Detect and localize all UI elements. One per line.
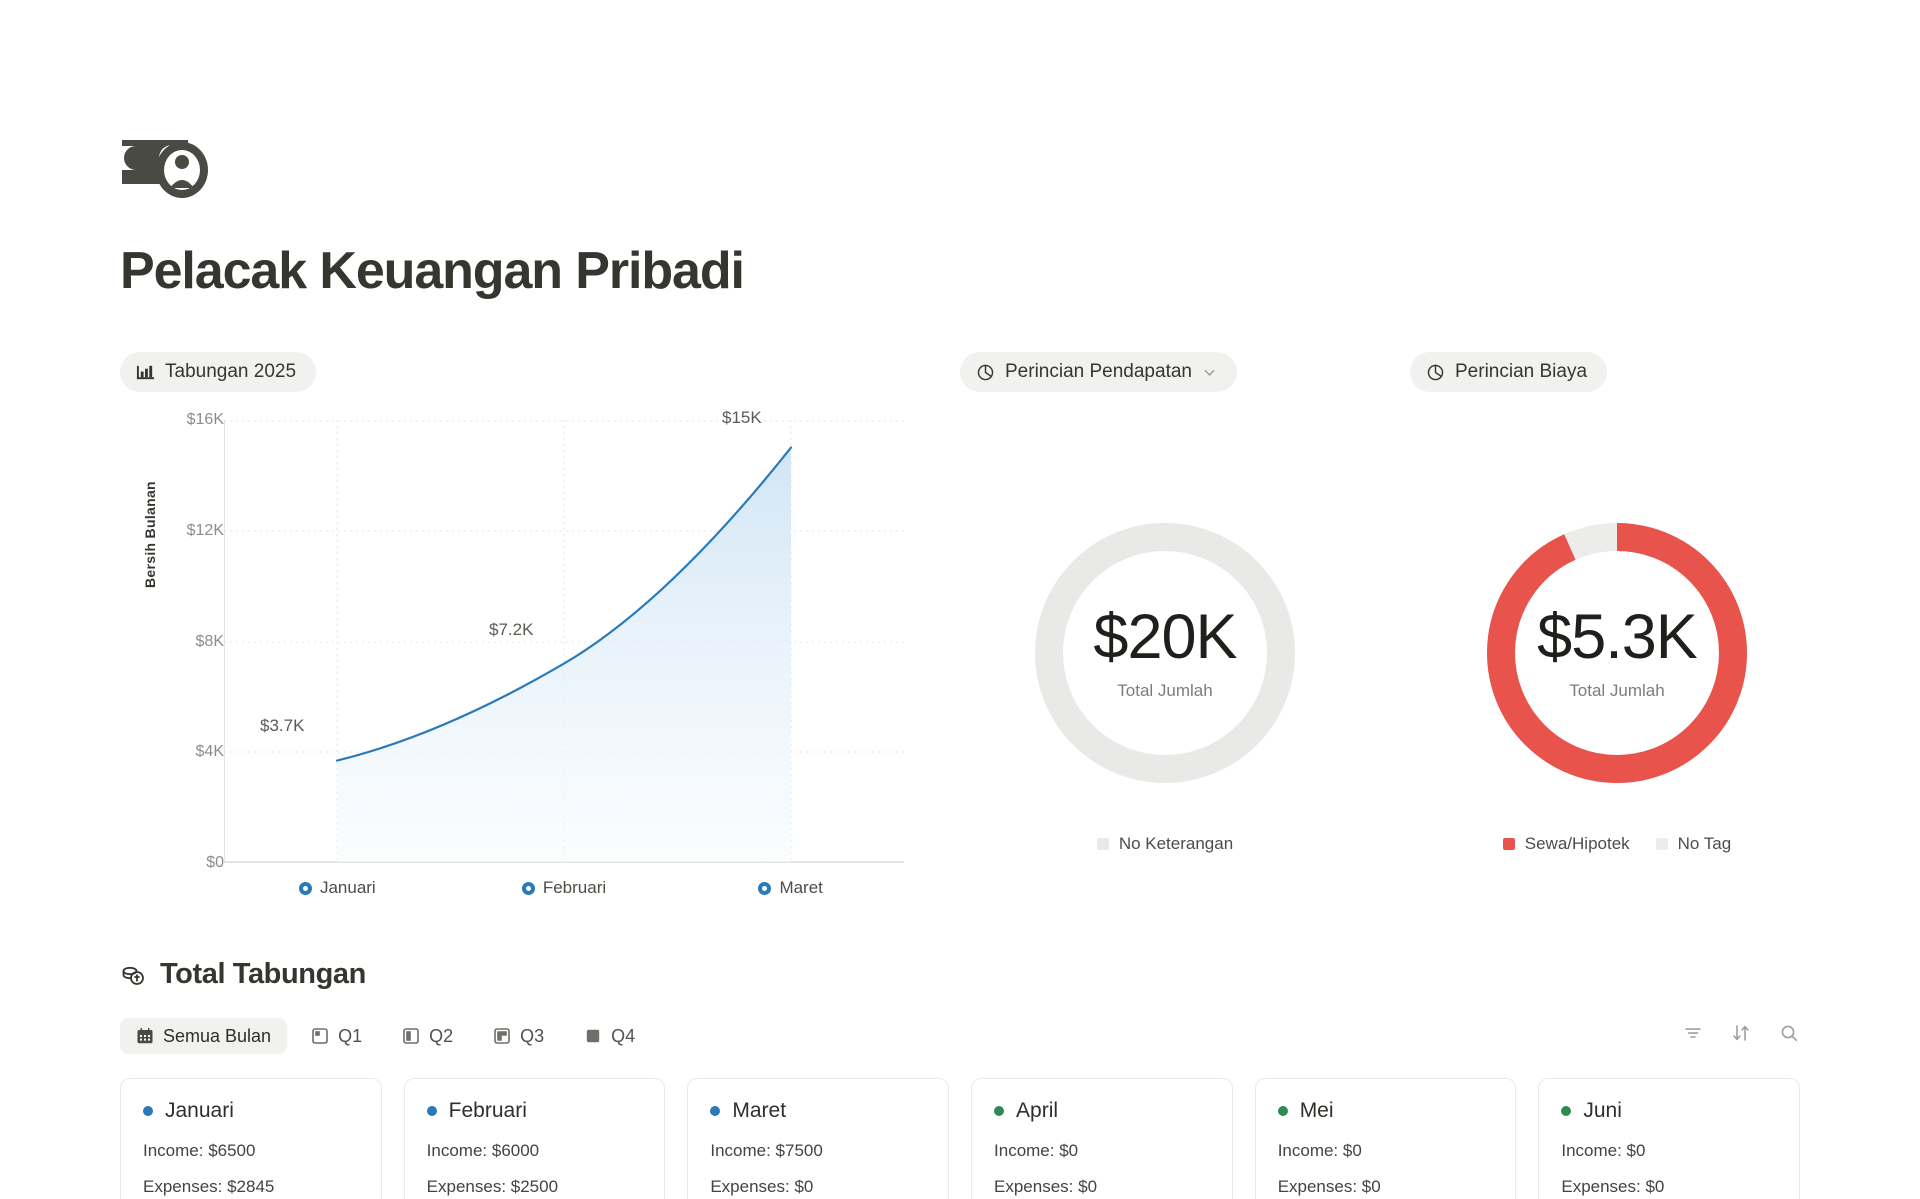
x-tick-label: Januari: [320, 878, 376, 898]
card-month-label: Juni: [1583, 1099, 1622, 1123]
card-month-label: April: [1016, 1099, 1058, 1123]
status-dot-icon: [1561, 1106, 1571, 1116]
chart-toolbar: Tabungan 2025 Perincian Pendapatan: [120, 352, 1800, 394]
month-tabs-row: Semua Bulan Q1 Q2 Q3: [120, 1018, 1800, 1056]
tab-perincian-biaya-label: Perincian Biaya: [1455, 361, 1587, 383]
table-tools: [1682, 1022, 1800, 1044]
tab-q1[interactable]: Q1: [295, 1018, 378, 1054]
expense-donut-chart: $5.3K Total Jumlah: [1482, 518, 1752, 788]
x-tick-label: Maret: [779, 878, 822, 898]
series-dot-icon: [299, 882, 312, 895]
legend-swatch-icon: [1503, 838, 1515, 850]
tab-perincian-pendapatan-label: Perincian Pendapatan: [1005, 361, 1192, 383]
tab-q2-label: Q2: [429, 1026, 453, 1047]
status-dot-icon: [1278, 1106, 1288, 1116]
status-dot-icon: [994, 1106, 1004, 1116]
month-tabs: Semua Bulan Q1 Q2 Q3: [120, 1018, 1800, 1054]
legend-label: No Tag: [1678, 834, 1732, 854]
tab-q2[interactable]: Q2: [386, 1018, 469, 1054]
month-cards: Januari Income: $6500 Expenses: $2845 Fe…: [120, 1078, 1800, 1199]
expense-donut-card: $5.3K Total Jumlah Sewa/Hipotek No Tag: [1452, 518, 1782, 854]
savings-area-chart: Bersih Bulanan $16K $12K $8K $4K $0: [120, 420, 920, 920]
x-tick-februari: Februari: [451, 878, 678, 898]
card-expenses: Expenses: $0: [994, 1177, 1210, 1197]
tab-semua-bulan-label: Semua Bulan: [163, 1026, 271, 1047]
x-axis: Januari Februari Maret: [224, 863, 904, 913]
filter-icon[interactable]: [1682, 1022, 1704, 1044]
card-header: Januari: [143, 1099, 359, 1123]
coins-icon: [120, 962, 146, 988]
card-expenses: Expenses: $0: [1561, 1177, 1777, 1197]
quarter-2-icon: [402, 1027, 420, 1045]
y-tick: $12K: [154, 522, 224, 540]
legend-item: No Keterangan: [1097, 834, 1233, 854]
sort-icon[interactable]: [1730, 1022, 1752, 1044]
bar-chart-icon: [136, 363, 155, 382]
card-month-label: Mei: [1300, 1099, 1334, 1123]
income-total-value: $20K: [1093, 606, 1236, 669]
card-income: Income: $0: [1278, 1141, 1494, 1161]
tab-tabungan-2025-label: Tabungan 2025: [165, 361, 296, 383]
status-dot-icon: [427, 1106, 437, 1116]
y-axis-ticks: $16K $12K $8K $4K $0: [120, 420, 224, 863]
data-label-januari: $3.7K: [260, 716, 304, 736]
expense-legend: Sewa/Hipotek No Tag: [1452, 834, 1782, 854]
tab-q3[interactable]: Q3: [477, 1018, 560, 1054]
section-title-label: Total Tabungan: [160, 958, 366, 991]
list-item[interactable]: Februari Income: $6000 Expenses: $2500: [404, 1078, 666, 1199]
y-tick: $4K: [154, 743, 224, 761]
series-dot-icon: [758, 882, 771, 895]
pie-chart-icon: [1426, 363, 1445, 382]
status-dot-icon: [710, 1106, 720, 1116]
calendar-icon: [136, 1027, 154, 1045]
expense-donut-center: $5.3K Total Jumlah: [1482, 518, 1752, 788]
x-tick-label: Februari: [543, 878, 606, 898]
tab-q3-label: Q3: [520, 1026, 544, 1047]
y-tick: $8K: [154, 633, 224, 651]
card-income: Income: $6500: [143, 1141, 359, 1161]
quarter-3-icon: [493, 1027, 511, 1045]
card-expenses: Expenses: $2500: [427, 1177, 643, 1197]
search-icon[interactable]: [1778, 1022, 1800, 1044]
card-expenses: Expenses: $0: [1278, 1177, 1494, 1197]
card-header: Mei: [1278, 1099, 1494, 1123]
status-dot-icon: [143, 1106, 153, 1116]
quarter-1-icon: [311, 1027, 329, 1045]
card-income: Income: $7500: [710, 1141, 926, 1161]
list-item[interactable]: April Income: $0 Expenses: $0: [971, 1078, 1233, 1199]
y-tick: $0: [154, 854, 224, 872]
section-title: Total Tabungan: [120, 958, 366, 991]
data-label-maret: $15K: [722, 408, 762, 428]
income-legend: No Keterangan: [1000, 834, 1330, 854]
list-item[interactable]: Juni Income: $0 Expenses: $0: [1538, 1078, 1800, 1199]
list-item[interactable]: Januari Income: $6500 Expenses: $2845: [120, 1078, 382, 1199]
legend-item: No Tag: [1656, 834, 1732, 854]
card-header: Maret: [710, 1099, 926, 1123]
legend-item: Sewa/Hipotek: [1503, 834, 1630, 854]
legend-swatch-icon: [1097, 838, 1109, 850]
x-tick-maret: Maret: [677, 878, 904, 898]
y-tick: $16K: [154, 411, 224, 429]
tab-q4[interactable]: Q4: [568, 1018, 651, 1054]
tab-q1-label: Q1: [338, 1026, 362, 1047]
income-donut-center: $20K Total Jumlah: [1030, 518, 1300, 788]
chevron-down-icon: [1202, 365, 1217, 380]
quarter-4-icon: [584, 1027, 602, 1045]
pie-chart-icon: [976, 363, 995, 382]
legend-label: Sewa/Hipotek: [1525, 834, 1630, 854]
income-total-label: Total Jumlah: [1117, 681, 1212, 701]
income-donut-card: $20K Total Jumlah No Keterangan: [1000, 518, 1330, 854]
series-dot-icon: [522, 882, 535, 895]
card-expenses: Expenses: $2845: [143, 1177, 359, 1197]
x-tick-januari: Januari: [224, 878, 451, 898]
card-expenses: Expenses: $0: [710, 1177, 926, 1197]
data-label-februari: $7.2K: [489, 620, 533, 640]
card-header: Februari: [427, 1099, 643, 1123]
tab-perincian-biaya[interactable]: Perincian Biaya: [1410, 352, 1607, 392]
card-header: Juni: [1561, 1099, 1777, 1123]
card-month-label: Januari: [165, 1099, 234, 1123]
card-header: April: [994, 1099, 1210, 1123]
page-root: Pelacak Keuangan Pribadi Tabungan 2025: [0, 0, 1920, 1199]
expense-total-value: $5.3K: [1537, 606, 1697, 669]
card-month-label: Februari: [449, 1099, 527, 1123]
income-donut-chart: $20K Total Jumlah: [1030, 518, 1300, 788]
list-item[interactable]: Mei Income: $0 Expenses: $0: [1255, 1078, 1517, 1199]
legend-label: No Keterangan: [1119, 834, 1233, 854]
card-income: Income: $0: [994, 1141, 1210, 1161]
list-item[interactable]: Maret Income: $7500 Expenses: $0: [687, 1078, 949, 1199]
tab-tabungan-2025[interactable]: Tabungan 2025: [120, 352, 316, 392]
card-income: Income: $6000: [427, 1141, 643, 1161]
card-month-label: Maret: [732, 1099, 786, 1123]
money-person-icon: [120, 128, 220, 200]
legend-swatch-icon: [1656, 838, 1668, 850]
page-title: Pelacak Keuangan Pribadi: [120, 243, 744, 300]
tab-perincian-pendapatan[interactable]: Perincian Pendapatan: [960, 352, 1237, 392]
card-income: Income: $0: [1561, 1141, 1777, 1161]
chart-plot-area: $3.7K $7.2K $15K: [224, 420, 904, 863]
expense-total-label: Total Jumlah: [1569, 681, 1664, 701]
tab-semua-bulan[interactable]: Semua Bulan: [120, 1018, 287, 1054]
tab-q4-label: Q4: [611, 1026, 635, 1047]
